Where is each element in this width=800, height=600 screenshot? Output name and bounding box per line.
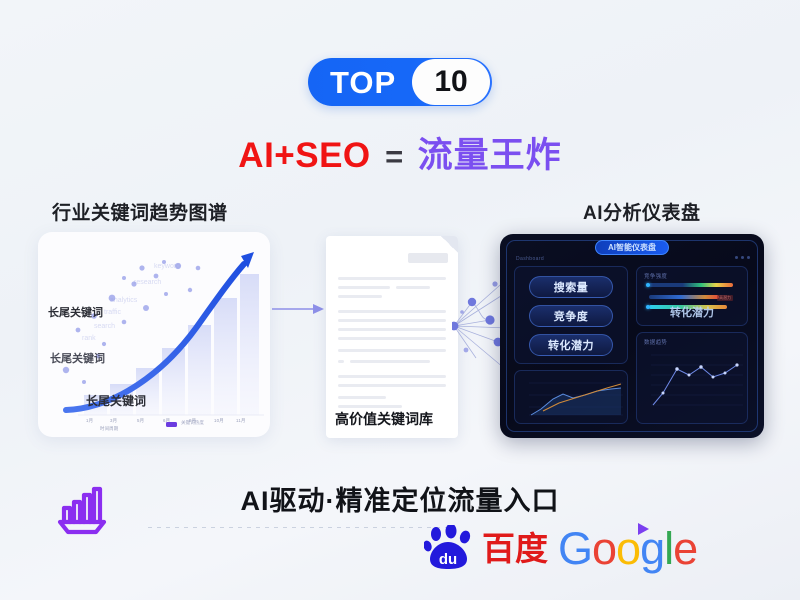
top-rank-badge: TOP 10: [308, 58, 492, 106]
top-badge-number: 10: [434, 67, 467, 97]
doc-line: [338, 310, 446, 313]
svg-text:traffic: traffic: [104, 309, 121, 316]
keyword-trend-card: keyword research analytics traffic searc…: [38, 232, 270, 437]
footer-divider: [148, 527, 448, 528]
legend-label: 关键词热度: [181, 420, 204, 426]
top-badge-number-pill: 10: [412, 59, 490, 105]
google-letter-o2: o: [616, 526, 640, 571]
keyword-tag-3: 长尾关键词: [86, 392, 146, 409]
doc-line: [338, 349, 446, 352]
x-tick-6: 11月: [236, 418, 246, 424]
dashboard-title-badge: AI智能仪表盘: [595, 240, 669, 255]
line-panel-caption: 数据趋势: [644, 338, 667, 346]
doc-line: [338, 396, 386, 399]
competition-gauge-panel: 竞争强度 高潜力 转化潜力: [636, 266, 748, 326]
doc-line: [338, 337, 446, 340]
page-title: AI+SEO = 流量王炸: [0, 127, 800, 178]
doc-line: [338, 286, 390, 289]
baidu-logo: du: [424, 525, 476, 571]
metric-pill-competition[interactable]: 竞争度: [529, 305, 613, 327]
gauge-dot-1: [646, 283, 650, 287]
doc-line: [338, 295, 382, 298]
google-letter-l: l: [664, 526, 673, 571]
svg-text:keyword: keyword: [154, 263, 180, 270]
svg-text:research: research: [134, 279, 161, 286]
bar-chart-pedestal-icon: [52, 482, 114, 540]
document-title: 高价值关键词库: [335, 409, 433, 429]
doc-line: [350, 360, 430, 363]
slide-canvas: TOP 10 AI+SEO = 流量王炸 行业关键词趋势图谱 AI分析仪表盘: [0, 0, 800, 600]
x-axis-caption: 时间周期: [100, 426, 118, 432]
section-label-dashboard: AI分析仪表盘: [583, 198, 701, 225]
legend-swatch: [166, 422, 177, 427]
google-letter-e: e: [673, 526, 697, 571]
x-tick-1: 3月: [110, 418, 117, 424]
headline-traffic: 流量王炸: [418, 136, 562, 175]
footer-tagline: AI驱动·精准定位流量入口: [0, 479, 800, 518]
play-triangle-icon: [638, 523, 649, 535]
gauge-badge: 高潜力: [717, 295, 733, 301]
arrow-right-icon: [272, 300, 326, 318]
x-tick-5: 10月: [214, 418, 224, 424]
gauge-panel-caption: 竞争强度: [644, 272, 667, 280]
doc-line: [396, 286, 430, 289]
doc-line: [338, 319, 446, 322]
baidu-wordmark: 百度: [482, 532, 548, 565]
doc-line: [338, 277, 446, 280]
doc-header-chip: [408, 253, 448, 263]
headline-ai-seo: AI+SEO: [238, 136, 370, 175]
google-letter-o1: o: [592, 526, 616, 571]
traffic-area-chart-panel: [514, 370, 628, 424]
page-fold-corner: [441, 236, 458, 253]
doc-line: [338, 375, 446, 378]
svg-text:search: search: [94, 323, 115, 330]
gauge-bar-2: [649, 295, 719, 299]
keyword-library-document: 高价值关键词库: [326, 236, 458, 438]
headline-equals: =: [385, 139, 403, 174]
metric-pill-conversion[interactable]: 转化潜力: [529, 334, 613, 356]
svg-text:analytics: analytics: [110, 297, 138, 304]
gauge-overlay-label: 转化潜力: [637, 304, 747, 320]
top-badge-label: TOP: [330, 67, 396, 98]
doc-bullet: [338, 360, 344, 363]
trend-chart-svg: keyword research analytics traffic searc…: [38, 232, 270, 437]
data-trend-line-panel: 数据趋势: [636, 332, 748, 424]
gauge-bar-1: [649, 283, 733, 287]
section-label-trend: 行业关键词趋势图谱: [52, 198, 228, 225]
doc-line: [338, 384, 446, 387]
keyword-tag-2: 长尾关键词: [50, 350, 105, 366]
line-chart-svg: [637, 333, 749, 425]
search-engine-logos: du 百度 G o o g l e: [424, 525, 697, 571]
svg-text:rank: rank: [82, 335, 96, 342]
doc-line: [338, 328, 446, 331]
dashboard-brand-label: Dashboard: [516, 256, 544, 262]
doc-line: [338, 405, 402, 408]
metric-pills-panel: 搜索量 竞争度 转化潜力: [514, 266, 628, 364]
svg-text:du: du: [439, 551, 457, 568]
google-letter-g1: G: [558, 526, 592, 571]
metric-pill-search-volume[interactable]: 搜索量: [529, 276, 613, 298]
ai-dashboard-panel: AI智能仪表盘 Dashboard 搜索量 竞争度 转化潜力 竞争强度: [500, 234, 764, 438]
x-tick-0: 1月: [86, 418, 93, 424]
window-controls[interactable]: [735, 256, 750, 259]
x-tick-2: 5月: [137, 418, 144, 424]
google-logo: G o o g l e: [558, 526, 697, 571]
keyword-tag-1: 长尾关键词: [48, 304, 103, 320]
area-chart-svg: [515, 371, 629, 425]
